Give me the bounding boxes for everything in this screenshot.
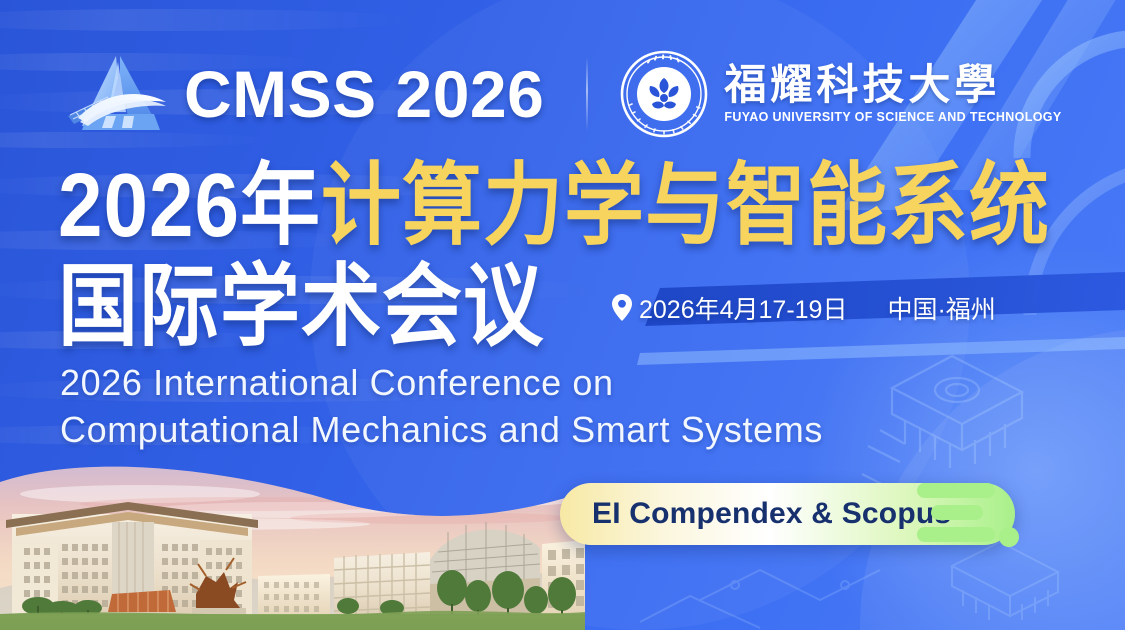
header-divider [586, 57, 588, 131]
subtitle-line-1: 2026 International Conference on [60, 360, 823, 407]
university-name-en: FUYAO UNIVERSITY OF SCIENCE AND TECHNOLO… [724, 111, 1061, 124]
university-identity: 福耀科技大學 FUYAO UNIVERSITY OF SCIENCE AND T… [618, 48, 1061, 140]
conference-acronym: CMSS 2026 [184, 61, 544, 127]
university-names: 福耀科技大學 FUYAO UNIVERSITY OF SCIENCE AND T… [724, 65, 1061, 124]
title-topic: 计算力学与智能系统 [321, 156, 1050, 256]
subtitle-line-2: Computational Mechanics and Smart System… [60, 407, 823, 454]
university-name-cn: 福耀科技大學 [724, 65, 1061, 107]
fuyao-university-seal [618, 48, 710, 140]
cmss-triangle-arch-logo [62, 48, 178, 140]
e-bars-dot-icon [917, 481, 1029, 549]
banner-header: CMSS 2026 [62, 48, 1062, 140]
location-pin-icon [612, 294, 632, 321]
indexing-badge: EI Compendex & Scopus [560, 483, 1015, 545]
conference-banner: CMSS 2026 [0, 0, 1125, 630]
conference-location: 中国·福州 [887, 290, 995, 326]
title-year: 2026年 [58, 156, 321, 256]
title-line-1: 2026年计算力学与智能系统 [58, 160, 1050, 251]
campus-photo [0, 448, 585, 630]
conference-date: 2026年4月17-19日 [639, 290, 847, 326]
indexing-badge-label: EI Compendex & Scopus [592, 497, 951, 531]
date-location-row: 2026年4月17-19日 中国·福州 [612, 290, 996, 326]
english-subtitle: 2026 International Conference on Computa… [60, 360, 823, 454]
